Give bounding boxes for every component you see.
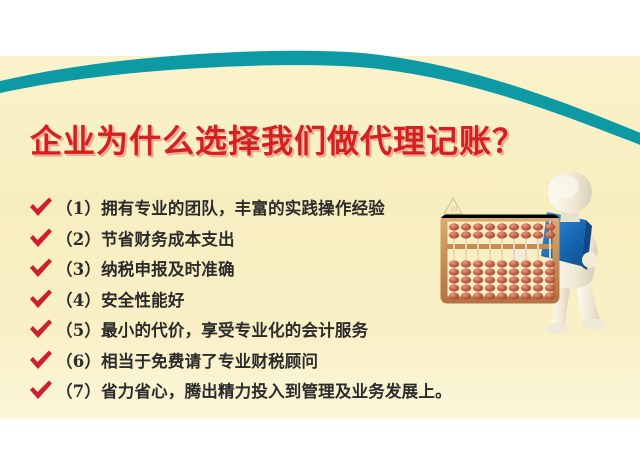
check-icon	[28, 378, 54, 402]
check-icon	[28, 348, 54, 372]
list-item-label: （6）相当于免费请了专业财税顾问	[56, 348, 318, 372]
list-item-label: （4）安全性能好	[56, 287, 185, 311]
list-item-label: （5）最小的代价，享受专业化的会计服务	[56, 317, 368, 341]
check-icon	[28, 287, 54, 311]
list-item: （7）省力省心，腾出精力投入到管理及业务发展上。	[28, 375, 548, 406]
abacus	[444, 218, 556, 300]
check-icon	[28, 317, 54, 341]
list-item-label: （7）省力省心，腾出精力投入到管理及业务发展上。	[56, 378, 452, 402]
check-icon	[28, 226, 54, 250]
poster-canvas: 企业为什么选择我们做代理记账？ （1）拥有专业的团队，丰富的实践操作经验 （2）…	[0, 0, 640, 460]
list-item: （6）相当于免费请了专业财税顾问	[28, 345, 548, 376]
list-item-label: （2）节省财务成本支出	[56, 226, 235, 250]
list-item-label: （3）纳税申报及时准确	[56, 256, 235, 280]
check-icon	[28, 195, 54, 219]
page-title: 企业为什么选择我们做代理记账？	[30, 124, 590, 159]
check-icon	[28, 256, 54, 280]
abacus-illustration	[440, 160, 640, 345]
list-item-label: （1）拥有专业的团队，丰富的实践操作经验	[56, 195, 385, 219]
